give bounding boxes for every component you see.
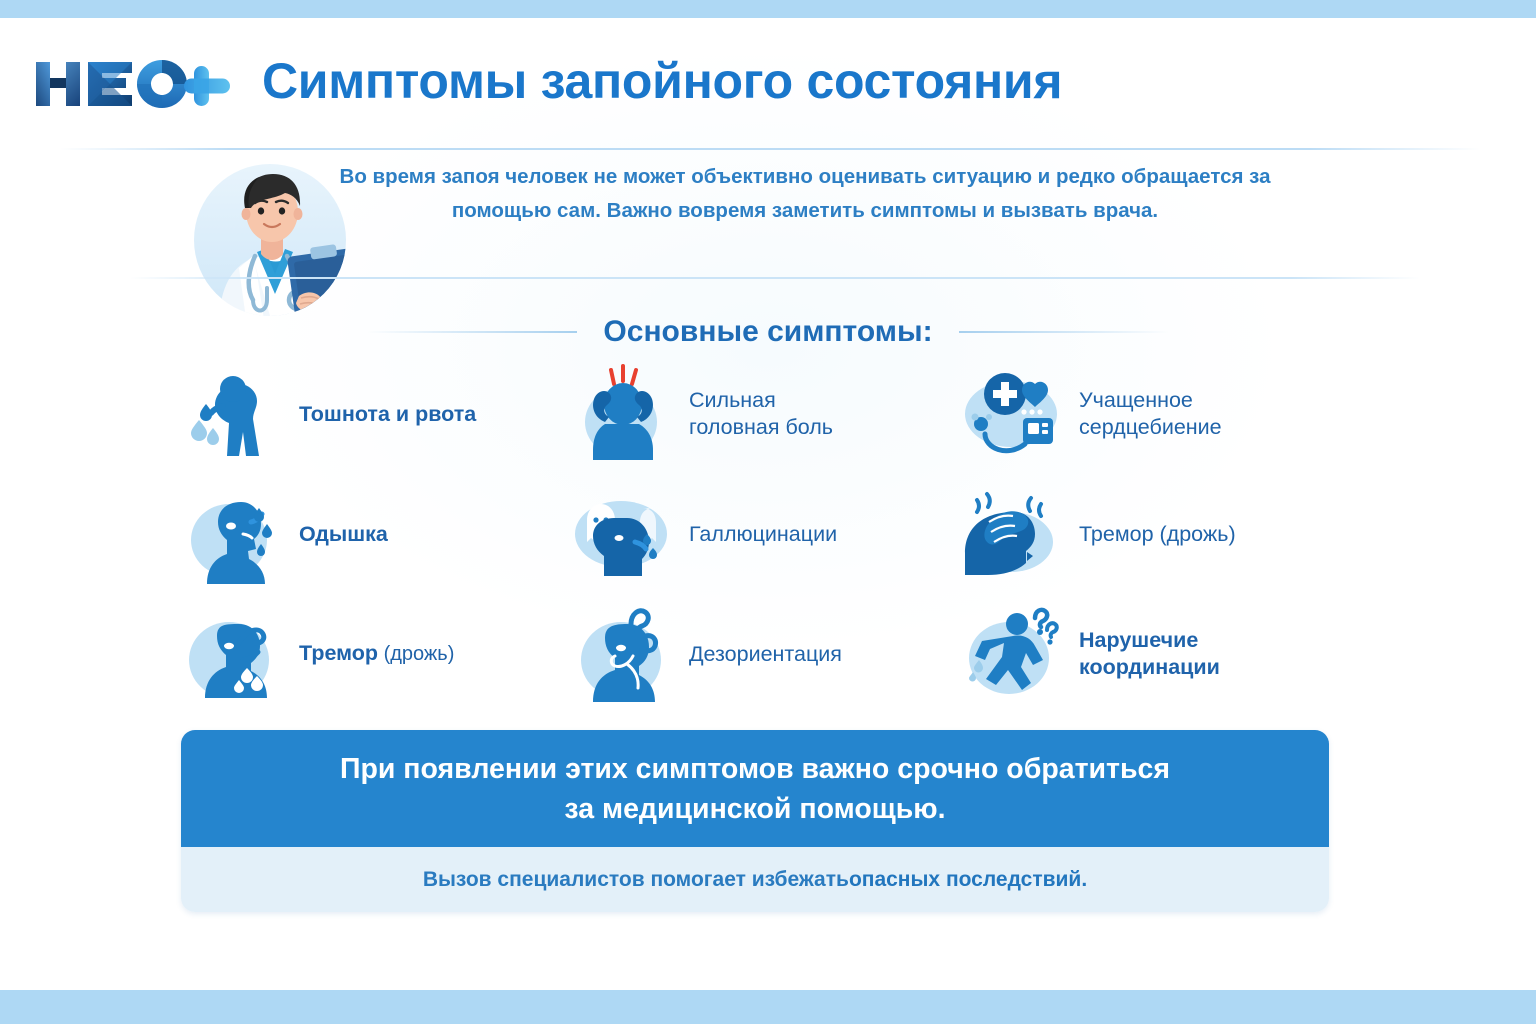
shortness-breath-icon bbox=[181, 482, 285, 586]
top-accent-band bbox=[0, 0, 1536, 18]
brand-logo bbox=[32, 54, 238, 112]
tremor-icon bbox=[181, 602, 285, 706]
symptom-label-line1: Сильная bbox=[689, 388, 776, 412]
symptom-label-main: Тремор bbox=[299, 641, 378, 665]
callout-footer-bold: опасных последствий. bbox=[849, 868, 1087, 892]
section-heading-text: Основные симптомы: bbox=[603, 315, 932, 349]
symptom-label: Сильная головная боль bbox=[689, 387, 833, 441]
symptom-label-sub: (дрожь) bbox=[378, 643, 454, 665]
symptom-label: Тремор (дрожь) bbox=[1079, 521, 1236, 548]
symptom-item: Дезориентация bbox=[571, 594, 961, 714]
callout-footer-plain: Вызов специалистов помогает избежать bbox=[423, 868, 849, 892]
header: Симптомы запойного состояния bbox=[0, 40, 1536, 132]
symptom-label: Нарушечие координации bbox=[1079, 627, 1220, 681]
symptoms-grid: Тошнота и рвота Сильная головная боль bbox=[181, 354, 1341, 714]
intro-line-1: Во время запоя человек не может объектив… bbox=[340, 165, 1244, 188]
heading-rule-right bbox=[959, 331, 1169, 333]
hallucination-icon bbox=[571, 482, 675, 586]
symptom-label: Одышка bbox=[299, 521, 388, 548]
vomiting-icon bbox=[181, 362, 285, 466]
symptom-label: Тремор (дрожь) bbox=[299, 640, 454, 668]
headache-icon bbox=[571, 362, 675, 466]
symptom-label: Дезориентация bbox=[689, 641, 842, 668]
heading-rule-left bbox=[367, 331, 577, 333]
symptom-label: Галлюцинации bbox=[689, 521, 837, 548]
section-heading: Основные симптомы: bbox=[0, 310, 1536, 354]
intro-paragraph: Во время запоя человек не может объектив… bbox=[318, 160, 1292, 228]
symptom-label-line2: головная боль bbox=[689, 415, 833, 439]
coordination-icon bbox=[961, 602, 1065, 706]
symptom-label: Учащенное сердцебиение bbox=[1079, 387, 1341, 441]
page-title: Симптомы запойного состояния bbox=[262, 52, 1062, 110]
intro-divider bbox=[130, 277, 1420, 279]
callout-footer: Вызов специалистов помогает избежать опа… bbox=[181, 847, 1329, 912]
callout-banner: При появлении этих симптомов важно срочн… bbox=[181, 730, 1329, 912]
bottom-accent-band bbox=[0, 990, 1536, 1024]
disorientation-icon bbox=[571, 602, 675, 706]
tremor-head-icon bbox=[961, 482, 1065, 586]
symptom-label-line2: координации bbox=[1079, 655, 1220, 679]
callout-line-1: При появлении этих симптомов важно срочн… bbox=[340, 750, 1170, 788]
symptom-label: Тошнота и рвота bbox=[299, 401, 476, 428]
intro-section: Во время запоя человек не может объектив… bbox=[0, 130, 1536, 310]
symptom-item: Сильная головная боль bbox=[571, 354, 961, 474]
symptom-item: Учащенное сердцебиение bbox=[961, 354, 1341, 474]
symptom-item: Одышка bbox=[181, 474, 571, 594]
symptom-label-line1: Нарушечие bbox=[1079, 628, 1198, 652]
symptom-item: Галлюцинации bbox=[571, 474, 961, 594]
callout-line-2: за медицинской помощью. bbox=[564, 790, 945, 828]
symptom-item: Тремор (дрожь) bbox=[181, 594, 571, 714]
callout-primary: При появлении этих симптомов важно срочн… bbox=[181, 730, 1329, 847]
heartbeat-icon bbox=[961, 362, 1065, 466]
poster-canvas: Симптомы запойного состояния bbox=[0, 18, 1536, 990]
symptom-item: Тремор (дрожь) bbox=[961, 474, 1341, 594]
symptom-item: Нарушечие координации bbox=[961, 594, 1341, 714]
symptom-item: Тошнота и рвота bbox=[181, 354, 571, 474]
